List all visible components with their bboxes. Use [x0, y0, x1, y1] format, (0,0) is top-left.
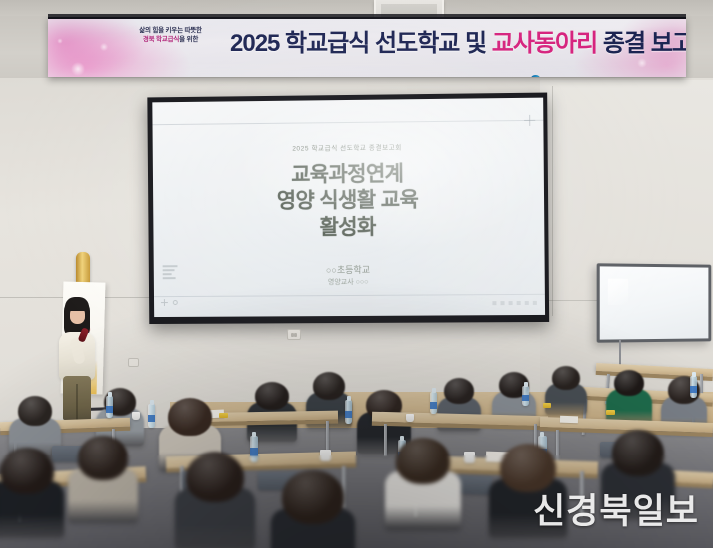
wall-outlet-icon-2 — [128, 358, 139, 367]
water-bottle — [106, 396, 113, 418]
presenter — [52, 288, 102, 420]
projected-slide: 2025 학교급식 선도학교 종결보고회 교육과정연계 영양 식생활 교육 활성… — [152, 98, 545, 317]
audience-head — [78, 436, 128, 480]
presenter-pants — [63, 376, 91, 420]
water-bottle — [690, 376, 697, 398]
audience-head — [552, 366, 580, 390]
audience-head — [612, 430, 664, 476]
paper-cup — [406, 414, 414, 422]
banner-lead-line1: 삶의 힘을 키우는 따뜻한 — [108, 26, 233, 35]
slide-toolbar-icon — [163, 265, 185, 291]
audience-head — [18, 396, 52, 426]
zoom-dot-icon — [173, 300, 178, 305]
slide-title-line1: 교육과정연계 — [153, 160, 544, 190]
audience-head — [313, 372, 345, 400]
banner-lead-line2: 경북 학교급식을 위한 — [108, 35, 233, 44]
audience-head — [614, 370, 644, 396]
water-bottle — [345, 400, 352, 424]
banner-lead-text: 삶의 힘을 키우는 따뜻한 경북 학교급식을 위한 — [108, 26, 233, 45]
slide-guide-bottom — [154, 294, 545, 297]
slide-footer: ○○초등학교 영양교사 ○○○ — [154, 263, 545, 290]
slide-eyebrow: 2025 학교급식 선도학교 종결보고회 — [153, 140, 544, 154]
presenter-fringe — [65, 297, 89, 311]
right-wall — [540, 80, 713, 410]
banner-title-part2: 종결 보고회 — [597, 30, 686, 57]
water-bottle — [522, 386, 529, 406]
paper-cup — [132, 412, 140, 420]
slide-crosshair-icon — [524, 115, 535, 126]
wall-outlet-icon — [287, 329, 301, 340]
water-bottle — [430, 392, 437, 414]
banner-lead-rest: 을 위한 — [179, 36, 198, 43]
desk-leg — [384, 424, 387, 456]
snack-item — [219, 413, 228, 418]
audience-head — [186, 452, 244, 502]
slide-footer-presenter: 영양교사 ○○○ — [154, 276, 545, 289]
slide-title-line3: 활성화 — [153, 213, 544, 243]
wall-seam-vertical — [552, 86, 553, 316]
audience-head — [0, 448, 54, 494]
snack-item — [543, 403, 551, 408]
banner-info-host-org: 경상북도교육청 — [550, 76, 595, 78]
audience-head — [444, 378, 474, 404]
banner-title: 2025 학교급식 선도학교 및 교사동아리 종결 보고회 — [230, 23, 680, 58]
banner-title-part1: 2025 학교급식 선도학교 및 — [230, 30, 492, 57]
banner-info-place: 장소 : 경주 드림센터 대강당 — [385, 76, 466, 78]
audience-head — [168, 398, 212, 436]
desk-leg — [326, 421, 329, 451]
audience-head — [255, 382, 289, 410]
slide-zoom-controls-icon — [161, 299, 178, 306]
banner-info-host: 주최·주관 : — [489, 76, 521, 78]
banner-info-date: 일자 : 2025. 12. 19.(금) — [292, 76, 363, 78]
snack-item — [606, 410, 615, 415]
paper-cup — [464, 452, 475, 463]
slide-title: 교육과정연계 영양 식생활 교육 활성화 — [153, 160, 545, 243]
banner-title-highlight: 교사동아리 — [492, 30, 597, 57]
slide-title-line2: 영양 식생활 교육 — [153, 187, 544, 217]
zoom-in-icon — [161, 299, 168, 306]
photo-canvas: 삶의 힘을 키우는 따뜻한 경북 학교급식을 위한 2025 학교급식 선도학교… — [0, 0, 713, 548]
banner-info-row: ◆ 일자 : 2025. 12. 19.(금) ◆ 장소 : 경주 드림센터 대… — [278, 75, 648, 77]
slide-status-dots-icon — [492, 301, 536, 305]
banner-lead-highlight: 경북 학교급식 — [143, 36, 179, 43]
handout-paper — [560, 416, 578, 424]
event-banner: 삶의 힘을 키우는 따뜻한 경북 학교급식을 위한 2025 학교급식 선도학교… — [48, 17, 686, 77]
water-bottle — [148, 404, 155, 428]
water-bottle — [250, 436, 258, 462]
projection-screen-frame: 2025 학교급식 선도학교 종결보고회 교육과정연계 영양 식생활 교육 활성… — [147, 93, 549, 324]
audience-head — [500, 444, 556, 492]
desk-leg — [580, 471, 584, 517]
audience-head — [396, 438, 450, 484]
gyeongbuk-education-logo-icon — [530, 75, 541, 77]
desk-leg — [556, 430, 559, 464]
whiteboard — [597, 263, 712, 342]
slide-guide-top — [153, 120, 544, 125]
paper-cup — [320, 450, 331, 461]
audience-head — [282, 470, 344, 524]
